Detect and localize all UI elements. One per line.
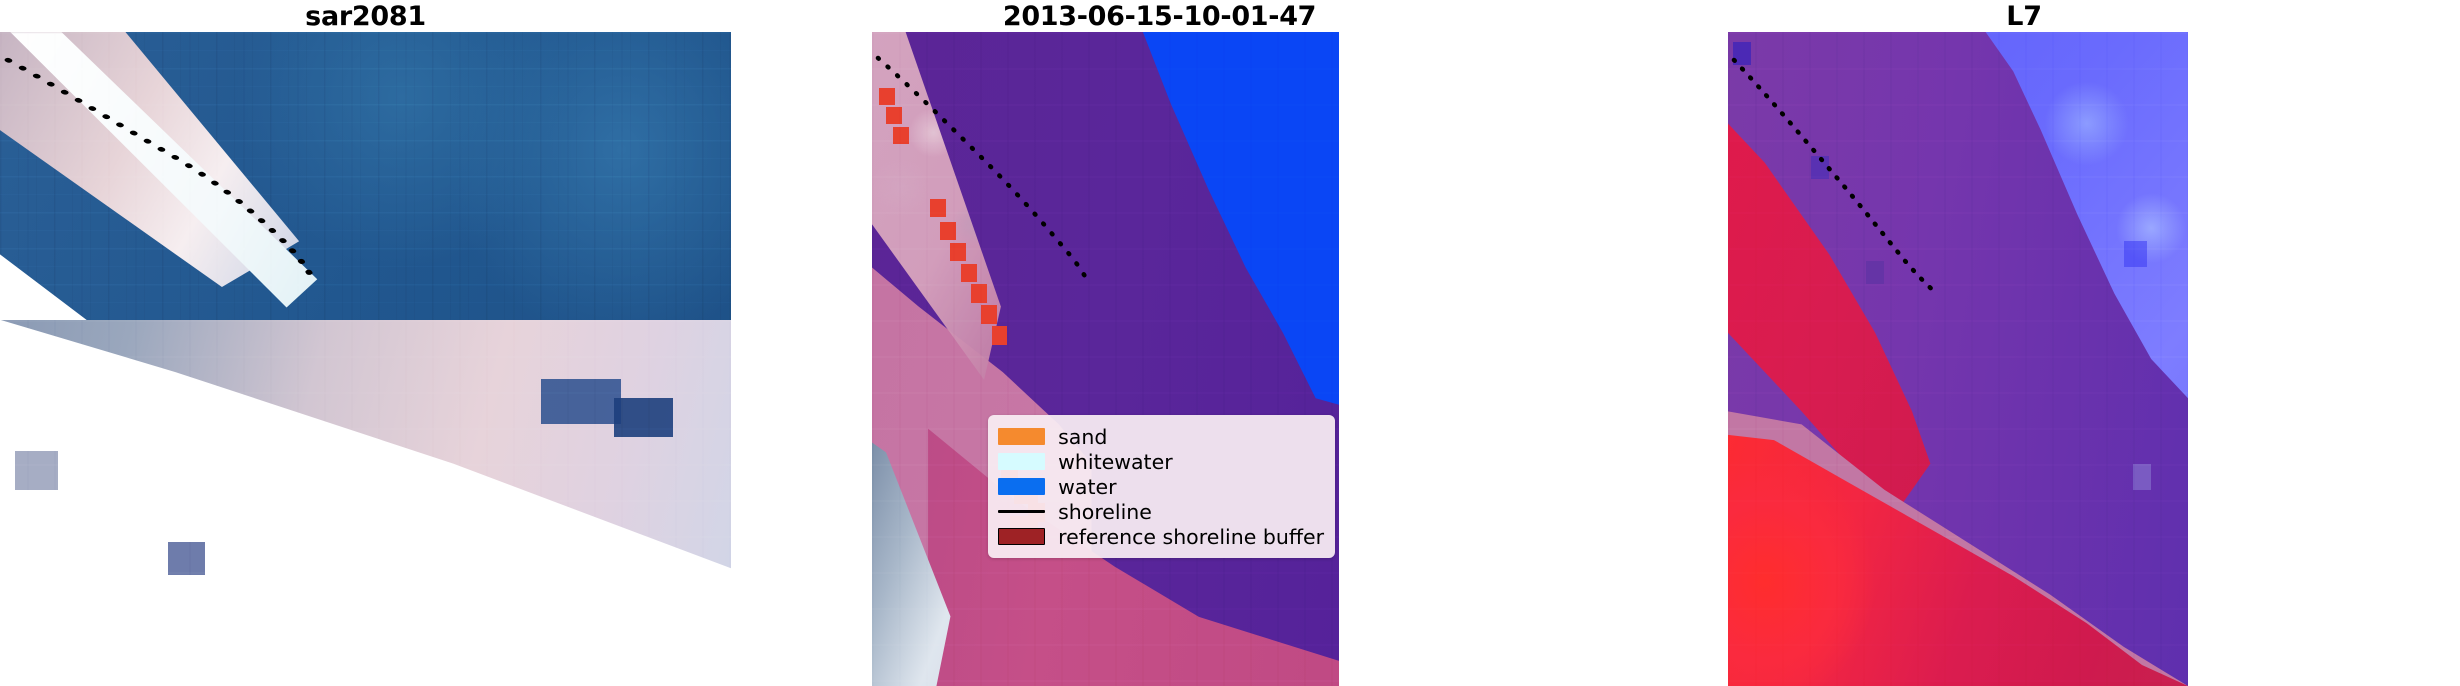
panel-sar2081: sar2081: [0, 0, 731, 686]
legend-item-whitewater[interactable]: whitewater: [998, 449, 1324, 474]
legend-item-sand[interactable]: sand: [998, 424, 1324, 449]
figure-canvas: sar2081 2013-06-15-10-01-47: [0, 0, 2460, 686]
legend-item-reference-shoreline-buffer[interactable]: reference shoreline buffer: [998, 524, 1324, 549]
panel-title-sar2081: sar2081: [0, 2, 731, 32]
legend-label-shoreline: shoreline: [1058, 501, 1152, 523]
pixel-texture-coarse: [0, 32, 731, 686]
whitewater-swatch-icon: [998, 453, 1045, 470]
axes-sar2081: [0, 32, 731, 686]
legend-label-sand: sand: [1058, 426, 1107, 448]
legend-label-water: water: [1058, 476, 1116, 498]
shoreline-line-icon: [998, 510, 1045, 513]
reference-shoreline-buffer-swatch-icon: [998, 528, 1045, 545]
water-swatch-icon: [998, 478, 1045, 495]
axes-L7: [1728, 32, 2188, 686]
panel-title-date: 2013-06-15-10-01-47: [731, 2, 1588, 32]
pixel-texture-coarse: [1728, 32, 2188, 686]
panel-title-L7: L7: [1588, 2, 2460, 32]
panel-2013-06-15-10-01-47: 2013-06-15-10-01-47: [731, 0, 1588, 686]
legend[interactable]: sand whitewater water shoreline referenc: [988, 415, 1335, 558]
legend-label-reference-shoreline-buffer: reference shoreline buffer: [1058, 526, 1324, 548]
legend-label-whitewater: whitewater: [1058, 451, 1173, 473]
sand-swatch-icon: [998, 428, 1045, 445]
axes-2013-06-15-10-01-47: sand whitewater water shoreline referenc: [872, 32, 1339, 686]
legend-item-water[interactable]: water: [998, 474, 1324, 499]
panel-L7: L7: [1588, 0, 2460, 686]
legend-item-shoreline[interactable]: shoreline: [998, 499, 1324, 524]
pixel-texture-coarse: [872, 32, 1339, 686]
